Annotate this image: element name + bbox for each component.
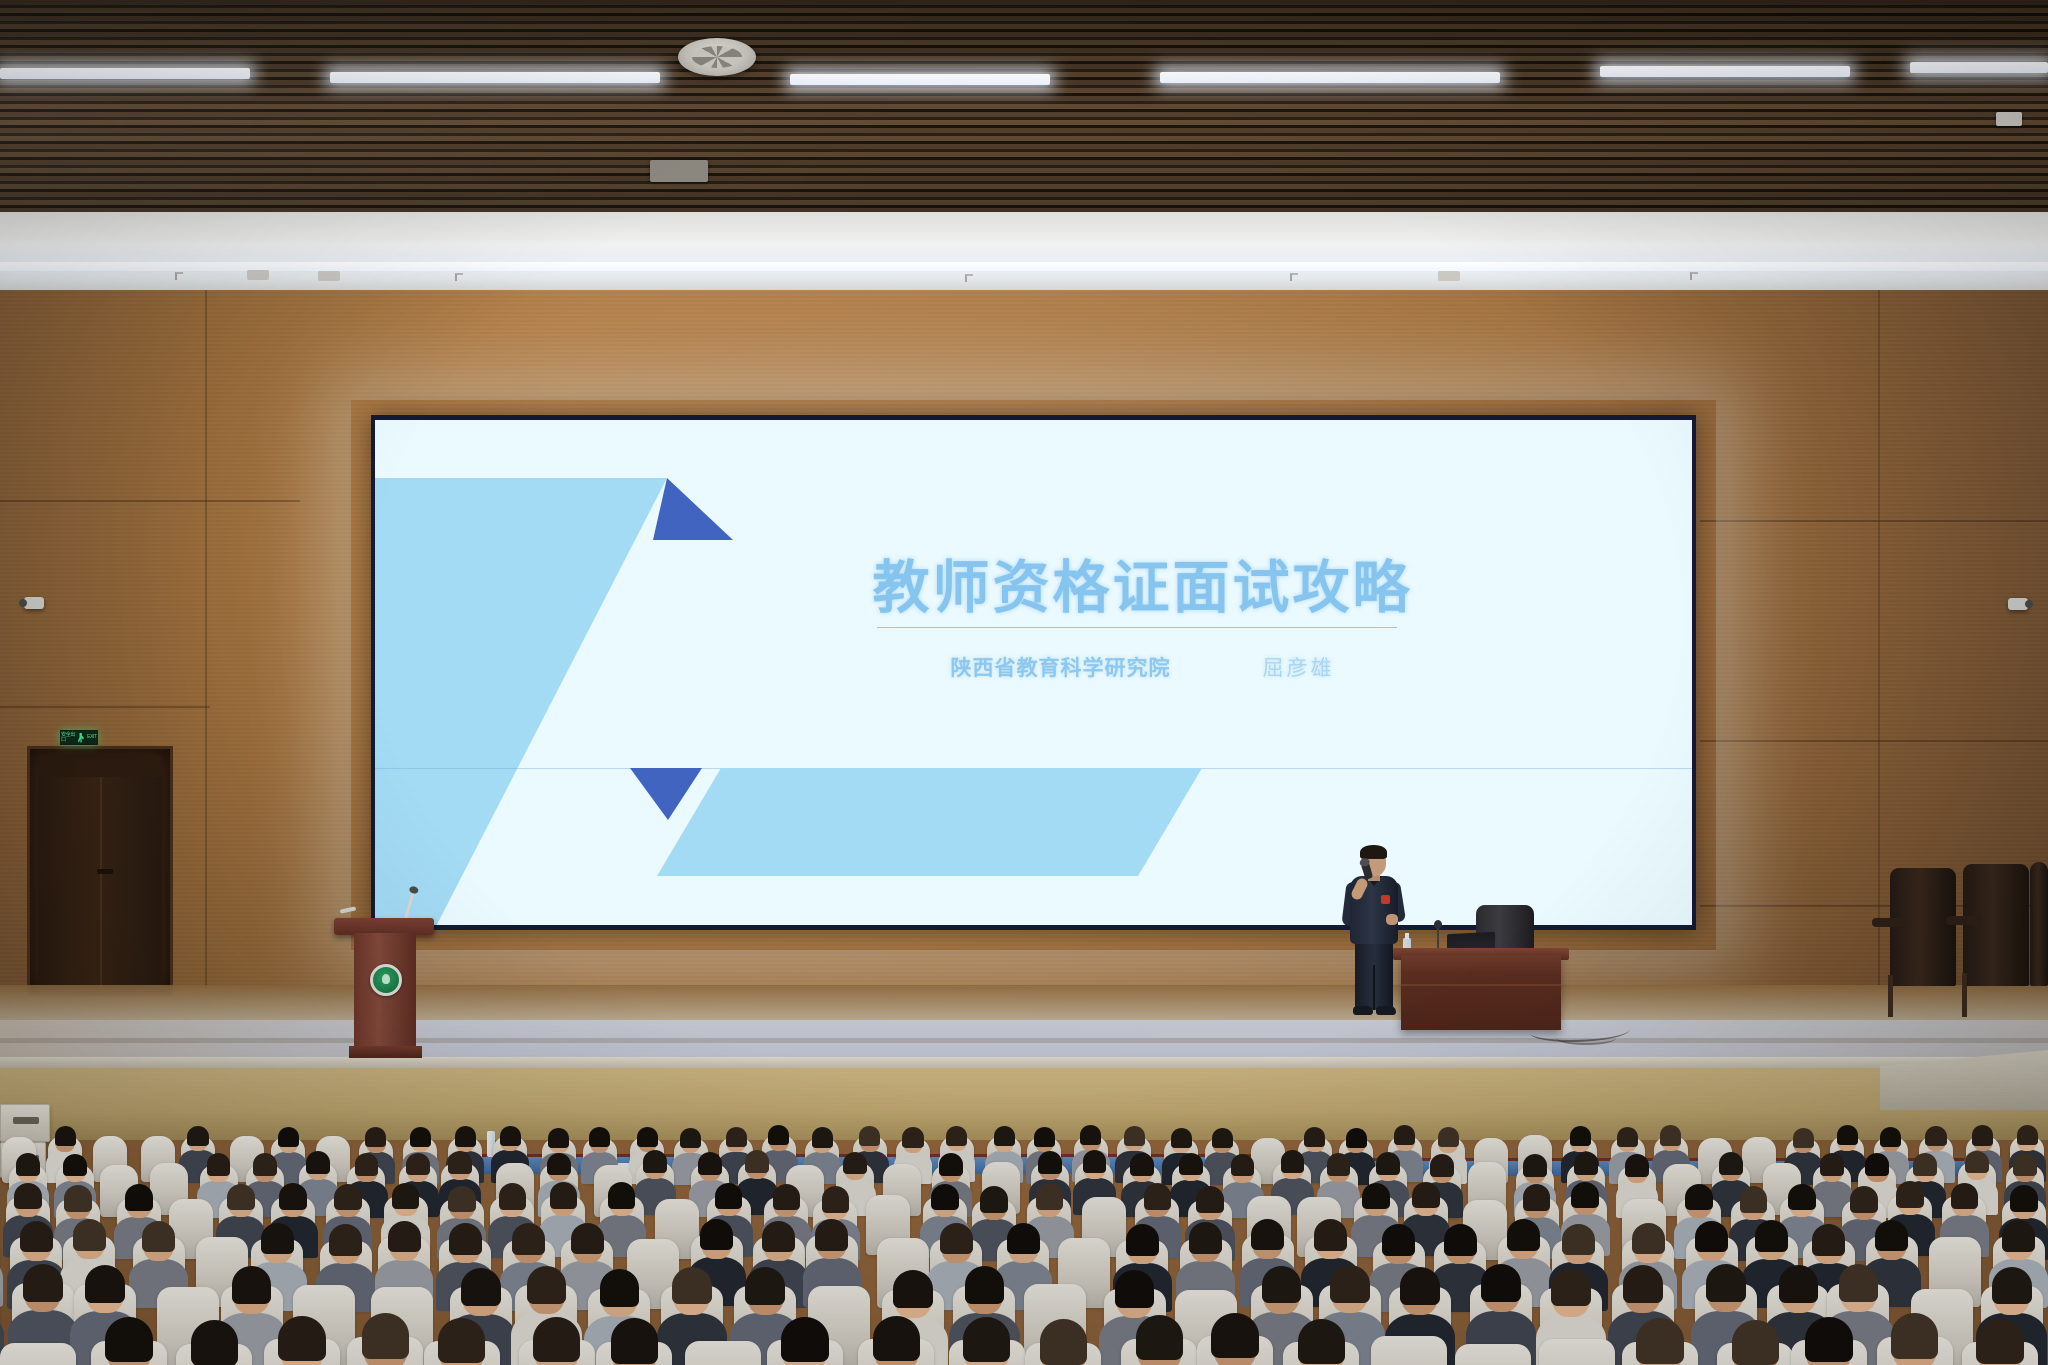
audience-seat[interactable] <box>0 1343 76 1365</box>
ceiling-light-strip <box>790 74 1050 85</box>
audience-person-hair <box>461 1268 501 1306</box>
audience-person-hair <box>279 1183 307 1209</box>
ceiling-soffit <box>0 212 2048 296</box>
exit-sign-label-cn: 安全出口 <box>61 733 76 743</box>
soffit-vent-icon <box>1438 271 1460 281</box>
desk-edge-line <box>1401 984 1561 986</box>
audience-seat[interactable] <box>685 1341 761 1365</box>
soffit-bracket <box>1290 273 1298 281</box>
emergency-door[interactable] <box>27 746 173 996</box>
audience-person-hair <box>388 1221 421 1253</box>
audience-person-hair <box>448 1151 472 1174</box>
audience-person-hair <box>1837 1125 1858 1145</box>
audience-person-hair <box>191 1320 239 1365</box>
security-camera-icon <box>2008 598 2028 610</box>
audience-person-hair <box>392 1183 420 1209</box>
audience-person-hair <box>73 1219 106 1251</box>
audience-person-hair <box>1880 1127 1901 1147</box>
audience-person-hair <box>20 1221 53 1253</box>
audience-person-hair <box>1144 1183 1172 1209</box>
audience-person-hair <box>55 1126 76 1146</box>
air-vent-diffuser-icon <box>678 38 756 76</box>
audience-person-hair <box>1551 1269 1591 1307</box>
audience-person-hair <box>1779 1265 1819 1303</box>
audience-person-hair <box>14 1183 42 1209</box>
audience-person-hair <box>1376 1152 1400 1175</box>
audience-person-hair <box>2010 1185 2038 1211</box>
audience-person-hair <box>1793 1128 1814 1148</box>
audience-person-hair <box>355 1153 379 1176</box>
audience-person-hair <box>1562 1224 1595 1256</box>
audience-person-hair <box>637 1127 658 1147</box>
projection-screen-bezel: 教师资格证面试攻略 陕西省教育科学研究院 屈彦雄 <box>371 415 1696 930</box>
audience-person-hair <box>1196 1186 1224 1212</box>
audience-person-hair <box>672 1267 712 1305</box>
audience-person-hair <box>1430 1154 1454 1177</box>
ceiling-light-strip <box>1910 62 2048 73</box>
audience-person-hair <box>227 1184 255 1210</box>
audience-person-hair <box>1913 1153 1937 1176</box>
audience-area <box>0 1120 2048 1365</box>
audience-person-hair <box>1719 1152 1743 1175</box>
running-man-icon <box>78 733 85 743</box>
audience-person-hair <box>946 1126 967 1146</box>
audience-person-hair <box>278 1316 326 1361</box>
auditorium-photo: 安全出口 EXIT 教师资格证面试攻略 陕西省教育科学研究院 屈彦雄 <box>0 0 2048 1365</box>
audience-person-hair <box>142 1221 175 1253</box>
audience-person-hair <box>232 1266 272 1304</box>
audience-person-hair <box>893 1270 933 1308</box>
audience-person-hair <box>334 1184 362 1210</box>
door-split-line <box>100 777 102 993</box>
audience-person-hair <box>1636 1318 1684 1363</box>
audience-person-hair <box>745 1267 785 1305</box>
audience-person-hair <box>1304 1127 1325 1147</box>
audience-person-hair <box>726 1127 747 1147</box>
ceiling-highlight <box>0 0 2048 218</box>
audience-person-hair <box>1625 1154 1649 1177</box>
audience-person-hair <box>1695 1221 1728 1253</box>
audience-person-hair <box>1523 1184 1551 1210</box>
audience-person-hair <box>16 1153 40 1176</box>
audience-person-hair <box>1740 1186 1768 1212</box>
audience-person-hair <box>1623 1265 1663 1303</box>
audience-person-hair <box>1034 1127 1055 1147</box>
audience-person-hair <box>1327 1153 1351 1176</box>
stage-floor-line <box>0 1038 2048 1043</box>
exit-sign: 安全出口 EXIT <box>60 730 98 745</box>
audience-person-hair <box>1865 1153 1889 1176</box>
audience-person-hair <box>1507 1219 1540 1251</box>
audience-person-hair <box>1171 1128 1192 1148</box>
audience-person-hair <box>406 1153 430 1176</box>
audience-person-hair <box>1805 1317 1853 1362</box>
audience-person-hair <box>1972 1125 1993 1145</box>
audience-person-hair <box>1212 1128 1233 1148</box>
audience-person-hair <box>873 1316 921 1361</box>
audience-person-hair <box>1951 1183 1979 1209</box>
audience-person-hair <box>1189 1222 1222 1254</box>
audience-person-hair <box>768 1125 789 1145</box>
audience-person-hair <box>1632 1223 1665 1255</box>
audience-person-hair <box>1281 1150 1305 1173</box>
audience-person-hair <box>329 1224 362 1256</box>
vip-chair-leg <box>1962 973 1967 1017</box>
audience-person-hair <box>63 1154 87 1177</box>
audience-person-shoulders <box>0 1258 3 1307</box>
soffit-vent-icon <box>318 271 340 281</box>
audience-person-hair <box>253 1153 277 1176</box>
slide-title: 教师资格证面试攻略 <box>375 542 1692 624</box>
ceiling-light-strip <box>0 68 250 79</box>
presenter-badge <box>1381 895 1390 904</box>
audience-seat[interactable] <box>1371 1336 1447 1365</box>
audience-person-hair <box>2017 1125 2038 1145</box>
audience-person-hair <box>698 1152 722 1175</box>
audience-person-hair <box>1992 1267 2032 1305</box>
slide-speaker-name: 屈彦雄 <box>1263 652 1335 682</box>
audience-person-hair <box>1136 1315 1184 1360</box>
audience-person-hair <box>533 1317 581 1362</box>
audience-person-hair <box>781 1317 829 1362</box>
audience-person-hair <box>500 1126 521 1146</box>
audience-person-hair <box>745 1150 769 1173</box>
audience-person-hair <box>1115 1270 1155 1308</box>
audience-person-hair <box>455 1126 476 1146</box>
audience-person-hair <box>1570 1126 1591 1146</box>
audience-person-hair <box>1007 1223 1040 1255</box>
audience-person-hair <box>680 1128 701 1148</box>
audience-person-hair <box>589 1127 610 1147</box>
audience-person-hair <box>1412 1182 1440 1208</box>
audience-person-hair <box>527 1266 567 1304</box>
audience-person-hair <box>1231 1154 1255 1177</box>
audience-person-hair <box>362 1313 410 1358</box>
audience-person-hair <box>278 1127 299 1147</box>
audience-person-hair <box>1732 1320 1780 1365</box>
audience-person-hair <box>499 1183 527 1209</box>
audience-person-hair <box>1850 1186 1878 1212</box>
audience-person-hair <box>449 1223 482 1255</box>
audience-person-hair <box>187 1126 208 1146</box>
audience-person-hair <box>1965 1151 1989 1174</box>
soffit-bracket <box>175 272 183 280</box>
audience-person-hair <box>1438 1127 1459 1147</box>
ceiling-light-strip <box>330 72 660 83</box>
audience-person-hair <box>23 1264 63 1302</box>
ceiling-light-strip <box>1160 72 1500 83</box>
audience-person-hair <box>1523 1154 1547 1177</box>
audience-person-hair <box>1976 1319 2024 1364</box>
audience-person-hair <box>410 1127 431 1147</box>
vip-chair-armrest <box>1872 918 1908 927</box>
audience-person-hair <box>1262 1266 1302 1304</box>
audience-person-hair <box>1571 1182 1599 1208</box>
audience-person-hair <box>2013 1153 2037 1176</box>
podium-emblem-icon <box>370 964 402 996</box>
audience-person-hair <box>1346 1128 1367 1148</box>
audience-person-hair <box>1040 1319 1088 1364</box>
audience-person-hair <box>1839 1264 1879 1302</box>
audience-seat[interactable] <box>1539 1339 1615 1365</box>
soffit-light-strip <box>0 262 2048 271</box>
audience-person-hair <box>1891 1313 1939 1358</box>
audience-person-hair <box>643 1150 667 1173</box>
audience-person-hair <box>1394 1125 1415 1145</box>
audience-person-hair <box>715 1183 743 1209</box>
soffit-vent-icon <box>247 270 269 280</box>
audience-person-hair <box>261 1223 294 1255</box>
audience-person-hair <box>1130 1153 1154 1176</box>
audience-person-hair <box>547 1153 571 1176</box>
audience-person-hair <box>902 1127 923 1147</box>
audience-person-hair <box>1812 1224 1845 1256</box>
slide-parallelogram <box>657 768 1202 876</box>
audience-person-hair <box>1444 1224 1477 1256</box>
audience-person-hair <box>1382 1224 1415 1256</box>
audience-person-hair <box>438 1318 486 1363</box>
audience-person-hair <box>812 1127 833 1147</box>
audience-person-hair <box>940 1223 973 1255</box>
presenter-shoe <box>1353 1006 1373 1015</box>
audience-person-hair <box>963 1317 1011 1362</box>
vip-chair[interactable] <box>2030 862 2048 986</box>
projection-screen[interactable]: 教师资格证面试攻略 陕西省教育科学研究院 屈彦雄 <box>375 420 1692 925</box>
presenter-hair <box>1360 845 1387 859</box>
audience-person-hair <box>85 1265 125 1303</box>
slide-triangle-top <box>653 478 733 540</box>
audience-person-hair <box>1755 1220 1788 1252</box>
audience-person-hair <box>815 1219 848 1251</box>
audience-person-hair <box>125 1184 153 1210</box>
security-camera-icon <box>24 597 44 609</box>
ceiling-speaker-icon <box>1996 112 2022 126</box>
audience-person-hair <box>1617 1127 1638 1147</box>
soffit-bracket <box>455 273 463 281</box>
door-handle[interactable] <box>97 869 113 874</box>
audience-person-hair <box>1362 1183 1390 1209</box>
audience-person-hair <box>1820 1153 1844 1176</box>
soffit-bracket <box>965 274 973 282</box>
audience-person-hair <box>1875 1220 1908 1252</box>
vip-chair-armrest <box>1946 916 1982 925</box>
audience-person-hair <box>365 1127 386 1147</box>
vip-chair-leg <box>1888 975 1893 1017</box>
audience-person-hair <box>1083 1150 1107 1173</box>
slide-triangle-bottom <box>630 768 702 820</box>
audience-person-hair <box>700 1219 733 1251</box>
audience-person-hair <box>64 1185 92 1211</box>
audience-person-hair <box>859 1126 880 1146</box>
audience-person-hair <box>1298 1319 1346 1364</box>
audience-person-hair <box>1251 1219 1284 1251</box>
door-transom <box>38 755 162 777</box>
soffit-bracket <box>1690 272 1698 280</box>
audience-person-hair <box>1400 1267 1440 1305</box>
audience-person-hair <box>548 1128 569 1148</box>
audience-person-hair <box>980 1186 1008 1212</box>
audience-person-hair <box>1660 1125 1681 1145</box>
audience-person-hair <box>306 1151 330 1174</box>
audience-person-hair <box>1706 1264 1746 1302</box>
audience-person-hair <box>600 1269 640 1307</box>
audience-person-hair <box>994 1126 1015 1146</box>
audience-person-hair <box>611 1318 659 1363</box>
audience-person-hair <box>571 1223 604 1255</box>
presenter-desk <box>1401 955 1561 1030</box>
audience-person-hair <box>608 1182 636 1208</box>
audience-person-hair <box>822 1186 850 1212</box>
presenter-leg-gap <box>1373 965 1375 1010</box>
podium-base <box>349 1046 422 1058</box>
vip-chair[interactable] <box>1963 864 2029 986</box>
slide-title-rule <box>877 627 1397 628</box>
audience-person-hair <box>1124 1126 1145 1146</box>
audience-person-hair <box>843 1152 867 1175</box>
audience-person-hair <box>931 1184 959 1210</box>
ceiling-vent-icon <box>650 160 708 182</box>
audience-person-hair <box>1788 1184 1816 1210</box>
audience-person-hair <box>1314 1219 1347 1251</box>
audience-person-hair <box>939 1153 963 1176</box>
audience-person-hair <box>1685 1184 1713 1210</box>
audience-person-hair <box>448 1186 476 1212</box>
audience-person-hair <box>1038 1151 1062 1174</box>
vip-chair[interactable] <box>1890 868 1956 986</box>
presenter-right-hand <box>1386 914 1398 925</box>
audience-person-hair <box>1179 1153 1203 1176</box>
ceiling-light-strip <box>1600 66 1850 77</box>
audience-person-hair <box>762 1221 795 1253</box>
exit-sign-label-en: EXIT <box>87 735 97 740</box>
audience-person-hair <box>550 1182 578 1208</box>
audience-person-hair <box>105 1317 153 1362</box>
audience-person-hair <box>2002 1220 2035 1252</box>
slide-subtitle: 陕西省教育科学研究院 屈彦雄 <box>375 652 1692 682</box>
wall-base-strip <box>0 985 2048 1025</box>
audience-person-hair <box>1126 1224 1159 1256</box>
audience-person-hair <box>1211 1313 1259 1358</box>
power-cable <box>1556 1031 1616 1045</box>
audience-person-hair <box>773 1184 801 1210</box>
audience-person-hair <box>1036 1183 1064 1209</box>
presenter-shoe <box>1376 1006 1396 1015</box>
audience-person-hair <box>1330 1265 1370 1303</box>
audience-person-hair <box>207 1153 231 1176</box>
audience-seat[interactable] <box>1455 1344 1531 1365</box>
audience-person-hair <box>965 1266 1005 1304</box>
audience-person-hair <box>1896 1181 1924 1207</box>
audience-person-hair <box>1481 1264 1521 1302</box>
audience-person-hair <box>1925 1126 1946 1146</box>
audience-person-hair <box>1080 1125 1101 1145</box>
slide-organization: 陕西省教育科学研究院 <box>951 652 1171 682</box>
audience-person-hair <box>1574 1152 1598 1175</box>
audience-person-hair <box>512 1223 545 1255</box>
